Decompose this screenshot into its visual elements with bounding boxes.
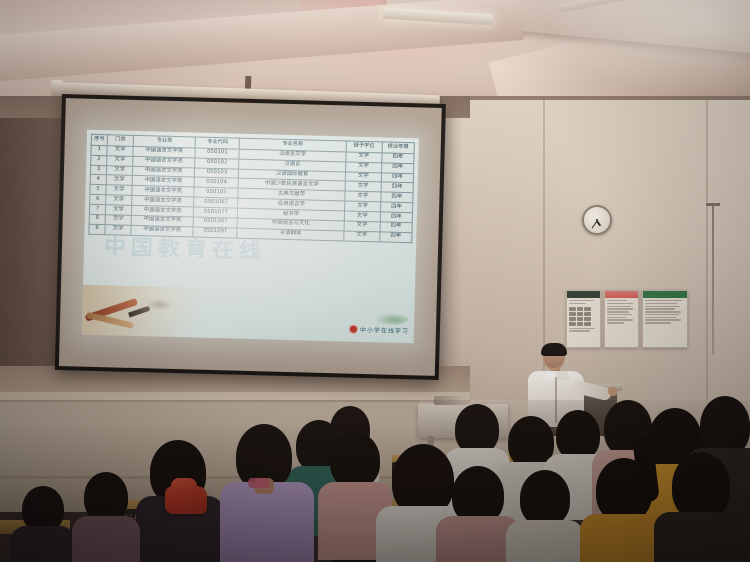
cell-duration: 四年	[380, 232, 412, 243]
major-list-table: 序号 门类 专业类 专业代码 专业名称 授予学位 修业年限 1 文学	[88, 134, 415, 243]
poster-body	[567, 298, 600, 347]
wall-panel-line	[0, 400, 470, 402]
table-body: 1 文学 中国语言文学类 050101 汉语言文学 文学 四年 2 文学 中国语…	[89, 145, 414, 242]
cell-index: 8	[89, 214, 105, 224]
projection-screen-surface: 中国教育在线 序号 门类 专业类 专业代码 专业名称 授予学位	[59, 98, 442, 376]
poster-body	[605, 298, 638, 347]
wall-clock	[582, 205, 612, 235]
wall-seam-2	[706, 100, 708, 400]
cell-degree: 文学	[344, 231, 380, 242]
poster-header-dark	[567, 291, 600, 298]
clock-center-pin	[596, 219, 598, 221]
cell-category: 文学	[106, 175, 132, 186]
poster-body	[643, 298, 687, 347]
col-header-category: 门类	[107, 135, 133, 147]
col-header-duration: 修业年限	[382, 142, 414, 154]
poster-green	[642, 290, 688, 348]
presenter-hand	[608, 387, 618, 396]
cell-category: 文学	[105, 224, 131, 235]
cell-index: 1	[91, 145, 107, 155]
poster-header-green	[643, 291, 687, 298]
presenter-hair	[541, 343, 567, 356]
cell-category: 文学	[106, 185, 132, 196]
slide-logo: 中小学在线学习	[349, 321, 409, 339]
cell-category: 文学	[107, 146, 133, 157]
cell-index: 2	[91, 155, 107, 165]
cell-category: 文学	[105, 215, 131, 226]
poster-header-pink	[605, 291, 638, 298]
ceiling-highlight	[540, 0, 750, 100]
cell-majorclass: 中国语言文学类	[131, 225, 193, 236]
slide-logo-text: 中小学在线学习	[360, 324, 409, 334]
logo-mark-icon	[349, 324, 358, 333]
wall-mounted-rod	[712, 205, 714, 355]
cell-category: 文学	[107, 155, 133, 166]
cell-index: 6	[90, 194, 106, 204]
cell-category: 文学	[105, 205, 131, 216]
projection-screen[interactable]: 中国教育在线 序号 门类 专业类 专业代码 专业名称 授予学位	[55, 94, 446, 380]
cell-index: 9	[89, 224, 105, 234]
desk-item-pink	[248, 478, 270, 488]
cell-majorcode: 050109T	[193, 227, 237, 238]
wall-poster-group	[566, 290, 688, 348]
cell-index: 7	[89, 204, 105, 214]
cell-category: 文学	[106, 165, 132, 176]
col-header-index: 序号	[91, 134, 107, 145]
clock-minute-hand	[591, 220, 597, 228]
cell-index: 5	[90, 185, 106, 195]
cell-index: 3	[90, 165, 106, 175]
presenter-shirt-placket	[555, 377, 557, 423]
lecture-hall-photo: 中国教育在线 序号 门类 专业类 专业代码 专业名称 授予学位	[0, 0, 750, 562]
poster-pink	[604, 290, 639, 348]
projected-slide: 中国教育在线 序号 门类 专业类 专业代码 专业名称 授予学位	[82, 130, 419, 344]
poster-dark	[566, 290, 601, 348]
cell-majorname: 手语翻译	[237, 228, 344, 241]
wall-rod-bracket	[706, 203, 720, 206]
cell-category: 文学	[106, 195, 132, 206]
desk-equipment	[434, 396, 468, 405]
cell-index: 4	[90, 175, 106, 185]
calligraphy-brush-artwork	[82, 285, 201, 338]
red-bag-top	[171, 478, 197, 494]
